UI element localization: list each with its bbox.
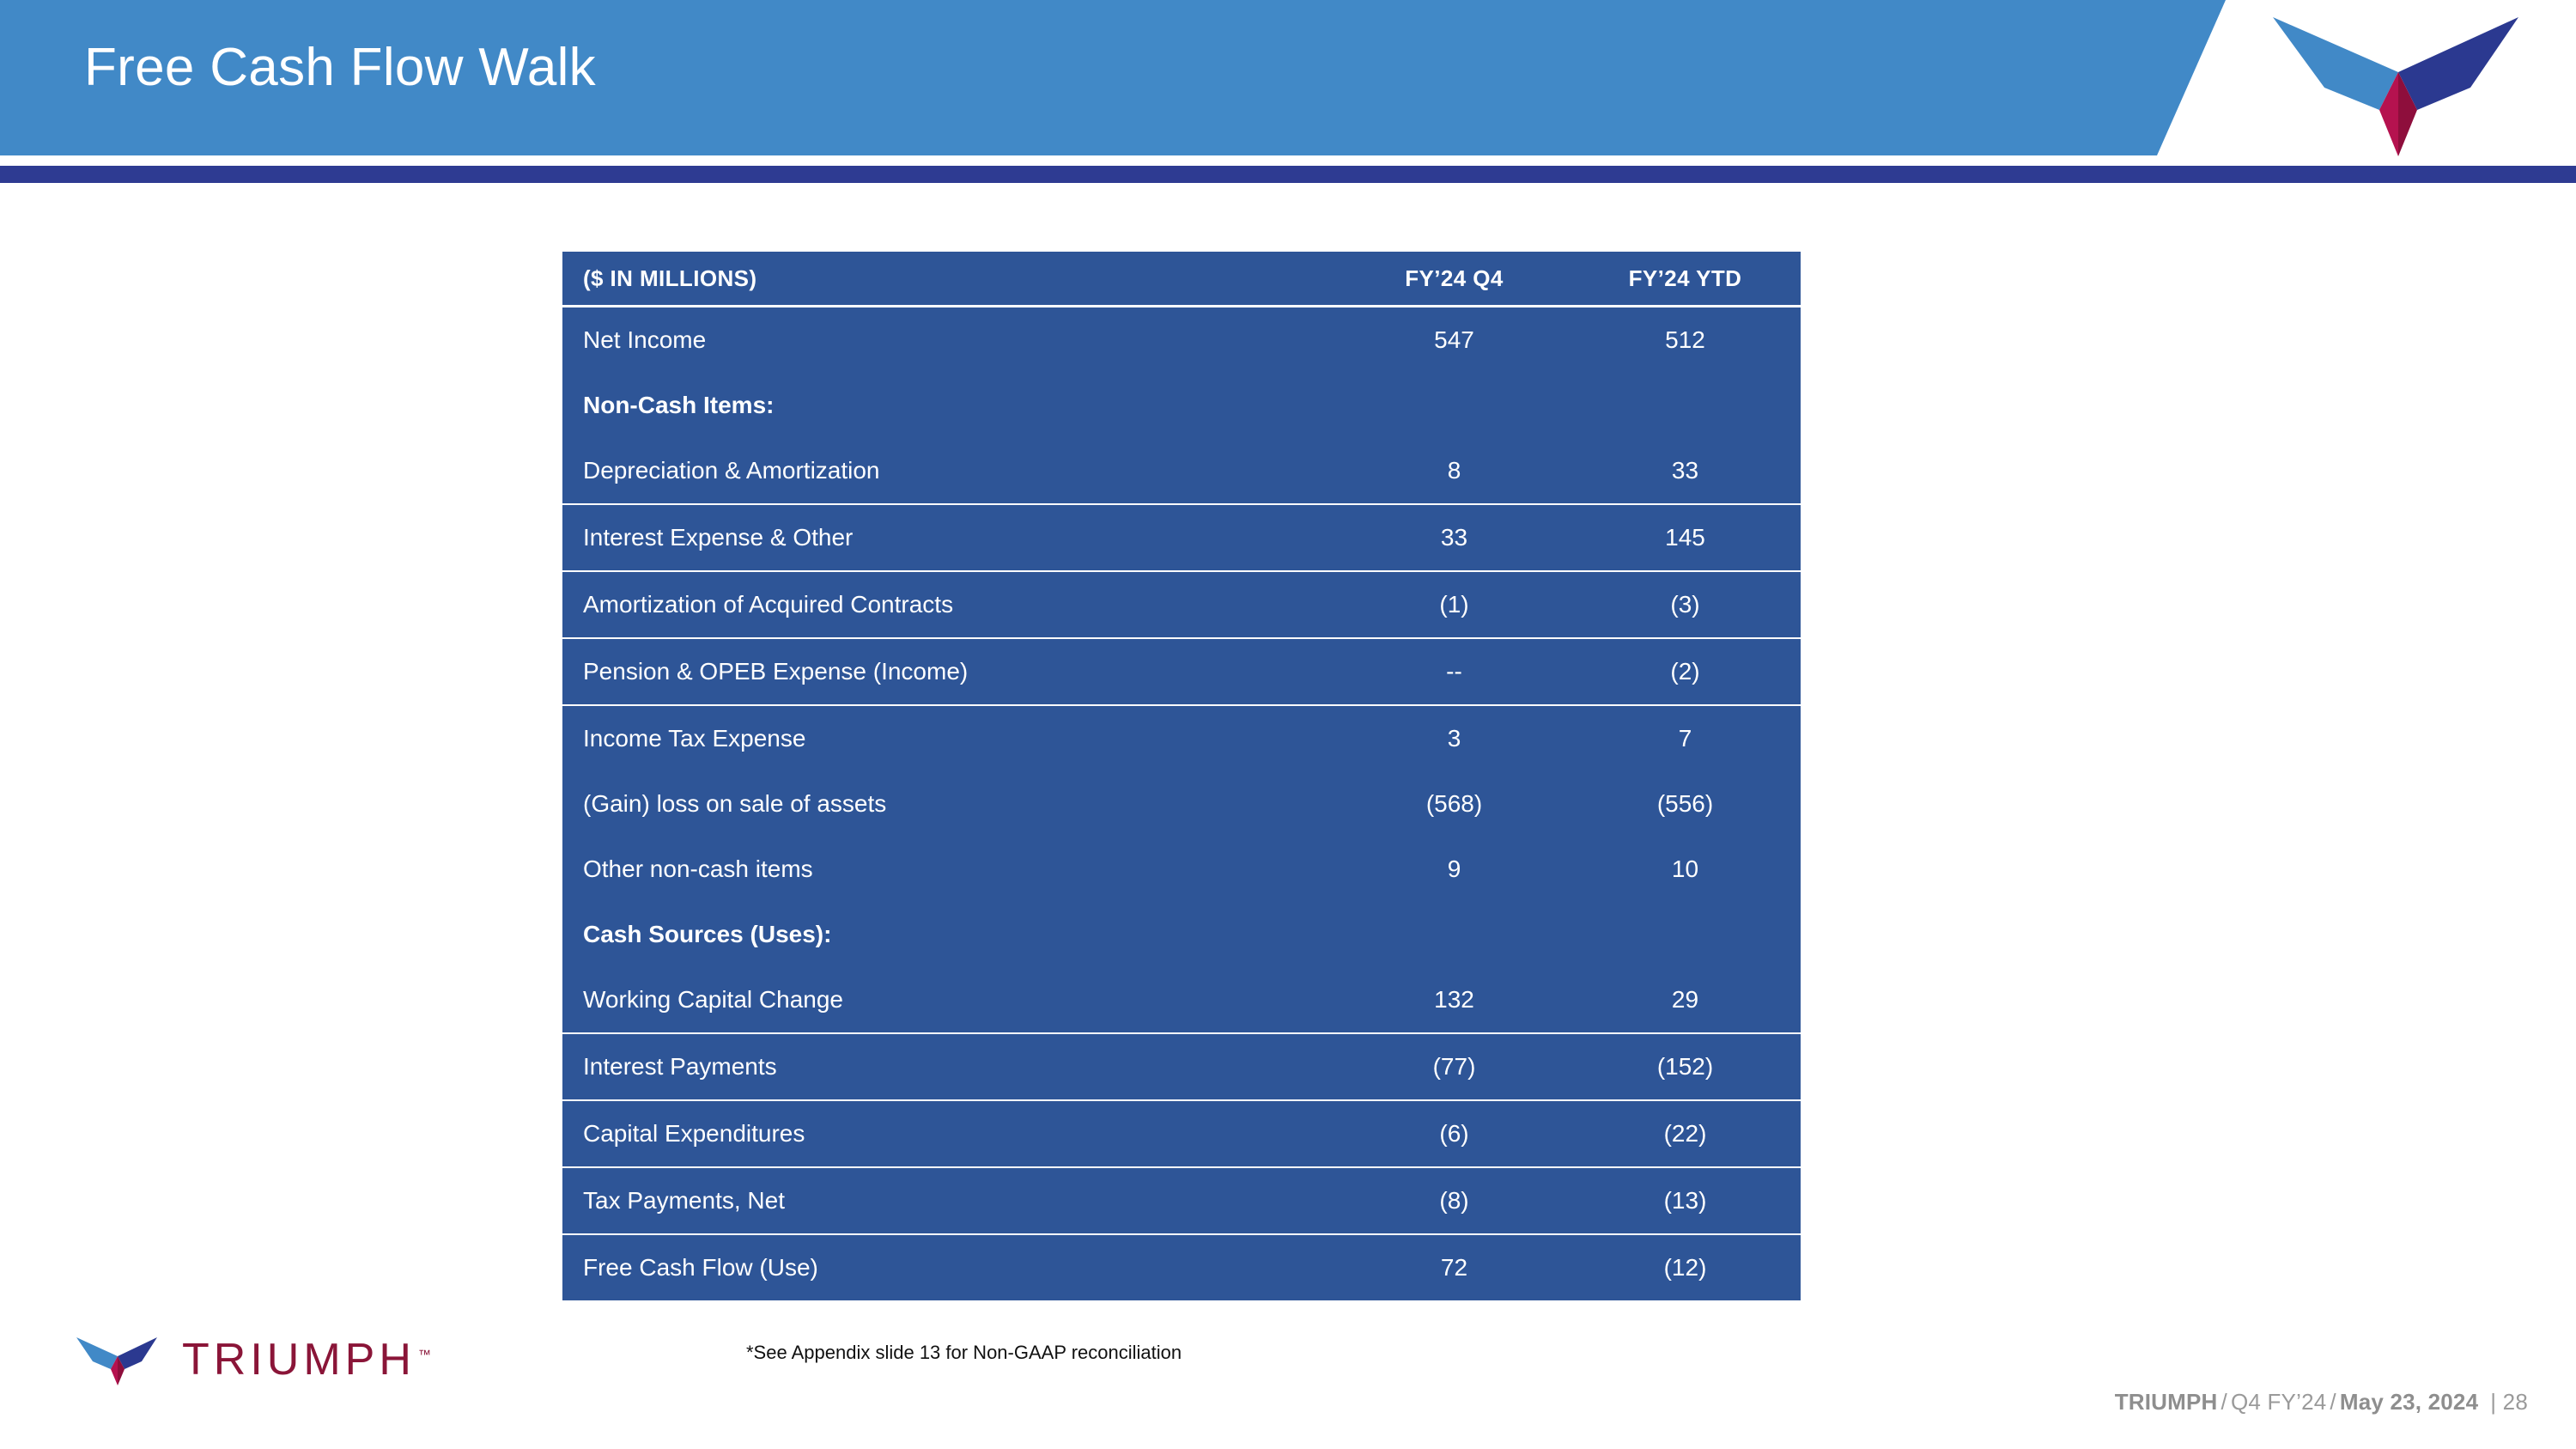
row-value-fy24-ytd: 145 xyxy=(1570,504,1801,571)
row-label: Income Tax Expense xyxy=(562,705,1339,771)
column-header-fy24-q4: FY’24 Q4 xyxy=(1339,252,1570,307)
footnote: *See Appendix slide 13 for Non-GAAP reco… xyxy=(746,1342,1182,1364)
header-navy-rule xyxy=(0,166,2576,183)
table-row: Pension & OPEB Expense (Income)--(2) xyxy=(562,638,1801,705)
row-value-fy24-ytd: 512 xyxy=(1570,307,1801,374)
footer-meta: TRIUMPH/Q4 FY’24/May 23, 2024| 28 xyxy=(2115,1389,2528,1416)
trademark-symbol: ™ xyxy=(418,1348,431,1362)
table-body: Net Income547512Non-Cash Items:Depreciat… xyxy=(562,307,1801,1301)
table-header: ($ IN MILLIONS) FY’24 Q4 FY’24 YTD xyxy=(562,252,1801,307)
table-row: Interest Expense & Other33145 xyxy=(562,504,1801,571)
row-label: Depreciation & Amortization xyxy=(562,438,1339,504)
table-row: Non-Cash Items: xyxy=(562,373,1801,438)
row-value-fy24-q4: (77) xyxy=(1339,1033,1570,1100)
row-value-fy24-q4: (1) xyxy=(1339,571,1570,638)
row-value-fy24-ytd xyxy=(1570,902,1801,967)
table-row: Other non-cash items910 xyxy=(562,837,1801,902)
table-row: Income Tax Expense37 xyxy=(562,705,1801,771)
footer-company: TRIUMPH xyxy=(2115,1389,2218,1415)
footer-separator-1: / xyxy=(2218,1389,2231,1415)
row-value-fy24-q4: 132 xyxy=(1339,967,1570,1033)
column-header-fy24-ytd: FY’24 YTD xyxy=(1570,252,1801,307)
table-row: Amortization of Acquired Contracts(1)(3) xyxy=(562,571,1801,638)
row-label: Capital Expenditures xyxy=(562,1100,1339,1167)
row-value-fy24-ytd: (12) xyxy=(1570,1234,1801,1300)
row-value-fy24-q4: -- xyxy=(1339,638,1570,705)
page-number: 28 xyxy=(2503,1389,2528,1415)
header-banner: Free Cash Flow Walk xyxy=(0,0,2233,155)
table-row: Working Capital Change13229 xyxy=(562,967,1801,1033)
table-row: Capital Expenditures(6)(22) xyxy=(562,1100,1801,1167)
row-label: Pension & OPEB Expense (Income) xyxy=(562,638,1339,705)
footer-wordmark: TRIUMPH™ xyxy=(182,1337,431,1382)
free-cash-flow-table: ($ IN MILLIONS) FY’24 Q4 FY’24 YTD Net I… xyxy=(562,252,1801,1300)
row-label: Net Income xyxy=(562,307,1339,374)
row-label: Interest Payments xyxy=(562,1033,1339,1100)
row-value-fy24-q4: 33 xyxy=(1339,504,1570,571)
footer-wordmark-text: TRIUMPH xyxy=(182,1335,416,1385)
row-label: Free Cash Flow (Use) xyxy=(562,1234,1339,1300)
row-value-fy24-ytd: (22) xyxy=(1570,1100,1801,1167)
row-value-fy24-ytd xyxy=(1570,373,1801,438)
row-value-fy24-q4 xyxy=(1339,902,1570,967)
table-row: (Gain) loss on sale of assets(568)(556) xyxy=(562,771,1801,837)
row-value-fy24-q4: (6) xyxy=(1339,1100,1570,1167)
row-value-fy24-ytd: (3) xyxy=(1570,571,1801,638)
row-value-fy24-q4: 8 xyxy=(1339,438,1570,504)
row-label: Amortization of Acquired Contracts xyxy=(562,571,1339,638)
row-label: Tax Payments, Net xyxy=(562,1167,1339,1234)
page-title: Free Cash Flow Walk xyxy=(84,41,596,94)
row-value-fy24-q4: 3 xyxy=(1339,705,1570,771)
row-value-fy24-ytd: (13) xyxy=(1570,1167,1801,1234)
row-label: Other non-cash items xyxy=(562,837,1339,902)
table-row: Interest Payments(77)(152) xyxy=(562,1033,1801,1100)
row-section-label: Non-Cash Items: xyxy=(562,373,1339,438)
row-section-label: Cash Sources (Uses): xyxy=(562,902,1339,967)
row-value-fy24-q4: (568) xyxy=(1339,771,1570,837)
table-row: Free Cash Flow (Use)72(12) xyxy=(562,1234,1801,1300)
row-value-fy24-ytd: 10 xyxy=(1570,837,1801,902)
triumph-logo-icon-footer xyxy=(76,1333,158,1386)
row-value-fy24-q4: (8) xyxy=(1339,1167,1570,1234)
row-value-fy24-q4 xyxy=(1339,373,1570,438)
table-row: Cash Sources (Uses): xyxy=(562,902,1801,967)
row-label: (Gain) loss on sale of assets xyxy=(562,771,1339,837)
table-row: Net Income547512 xyxy=(562,307,1801,374)
row-value-fy24-ytd: (556) xyxy=(1570,771,1801,837)
row-label: Interest Expense & Other xyxy=(562,504,1339,571)
triumph-logo-icon xyxy=(2271,5,2520,160)
row-value-fy24-ytd: 33 xyxy=(1570,438,1801,504)
row-value-fy24-q4: 547 xyxy=(1339,307,1570,374)
row-value-fy24-q4: 72 xyxy=(1339,1234,1570,1300)
footer-date: May 23, 2024 xyxy=(2340,1389,2478,1415)
column-header-units: ($ IN MILLIONS) xyxy=(562,252,1339,307)
row-value-fy24-ytd: 7 xyxy=(1570,705,1801,771)
table-row: Depreciation & Amortization833 xyxy=(562,438,1801,504)
row-value-fy24-q4: 9 xyxy=(1339,837,1570,902)
table-header-row: ($ IN MILLIONS) FY’24 Q4 FY’24 YTD xyxy=(562,252,1801,307)
footer-separator-2: / xyxy=(2326,1389,2339,1415)
row-label: Working Capital Change xyxy=(562,967,1339,1033)
row-value-fy24-ytd: (152) xyxy=(1570,1033,1801,1100)
row-value-fy24-ytd: 29 xyxy=(1570,967,1801,1033)
footer-divider: | xyxy=(2490,1389,2496,1415)
table-row: Tax Payments, Net(8)(13) xyxy=(562,1167,1801,1234)
footer-period: Q4 FY’24 xyxy=(2231,1389,2326,1415)
row-value-fy24-ytd: (2) xyxy=(1570,638,1801,705)
footer-logo: TRIUMPH™ xyxy=(76,1333,431,1386)
